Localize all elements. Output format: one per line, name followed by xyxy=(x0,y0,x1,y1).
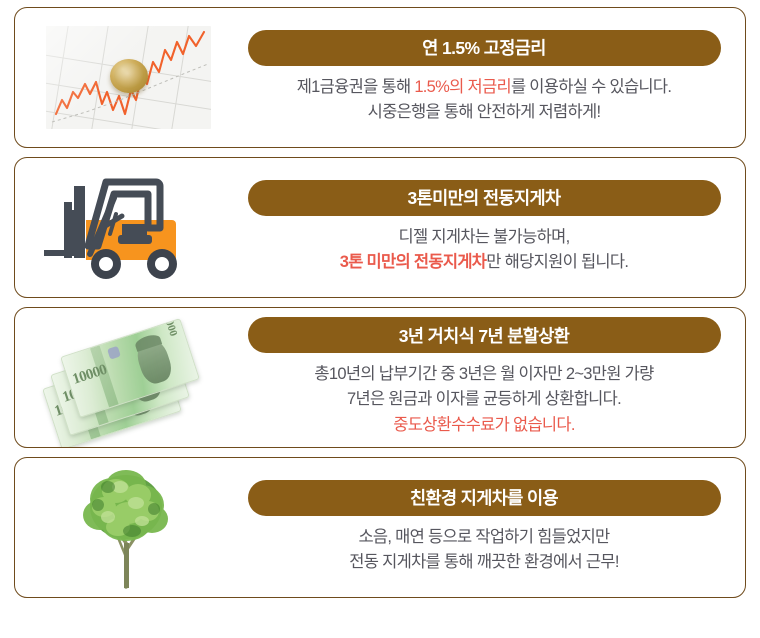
card-body-eco-friendly: 친환경 지게차를 이용 소음, 매연 등으로 작업하기 힘들었지만전동 지게차를… xyxy=(241,457,745,598)
forklift-icon xyxy=(44,172,212,284)
description-line: 7년은 원금과 이자를 균등하게 상환합니다. xyxy=(314,387,653,412)
card-body-under-3ton: 3톤미만의 전동지게차 디젤 지게차는 불가능하며,3톤 미만의 전동지게차만 … xyxy=(241,157,745,298)
description-line: 시중은행을 통해 안전하게 저렴하게! xyxy=(297,100,672,125)
description-line: 중도상환수수료가 없습니다. xyxy=(314,413,653,438)
card-description-repayment: 총10년의 납부기간 중 3년은 월 이자만 2~3만원 가량7년은 원금과 이… xyxy=(314,362,653,437)
banknote-seal xyxy=(107,345,121,359)
card-visual-coin-chart xyxy=(15,7,241,148)
description-highlight: 1.5%의 저금리 xyxy=(414,78,511,96)
description-text: 총10년의 납부기간 중 3년은 월 이자만 2~3만원 가량 xyxy=(314,365,653,383)
benefit-card-eco-friendly: 친환경 지게차를 이용 소음, 매연 등으로 작업하기 힘들었지만전동 지게차를… xyxy=(14,457,746,598)
coin-chart-photo xyxy=(46,26,211,129)
card-title-under-3ton: 3톤미만의 전동지게차 xyxy=(248,180,721,216)
card-body-repayment: 3년 거치식 7년 분할상환 총10년의 납부기간 중 3년은 월 이자만 2~… xyxy=(241,307,745,448)
description-highlight: 중도상환수수료가 없습니다. xyxy=(393,416,575,434)
description-line: 소음, 매연 등으로 작업하기 힘들었지만 xyxy=(349,525,618,550)
description-line: 총10년의 납부기간 중 3년은 월 이자만 2~3만원 가량 xyxy=(314,362,653,387)
description-text: 를 이용하실 수 있습니다. xyxy=(511,78,671,96)
description-line: 3톤 미만의 전동지게차만 해당지원이 됩니다. xyxy=(340,250,629,275)
card-title-eco-friendly: 친환경 지게차를 이용 xyxy=(248,480,721,516)
card-visual-banknotes: 10000 10000 10000 10000 10000 10000 xyxy=(15,307,241,448)
description-line: 전동 지게차를 통해 깨끗한 환경에서 근무! xyxy=(349,550,618,575)
description-text: 시중은행을 통해 안전하게 저렴하게! xyxy=(368,103,601,121)
description-line: 제1금융권을 통해 1.5%의 저금리를 이용하실 수 있습니다. xyxy=(297,75,672,100)
card-description-fixed-rate: 제1금융권을 통해 1.5%의 저금리를 이용하실 수 있습니다.시중은행을 통… xyxy=(297,75,672,125)
banknote-denomination-side: 10000 xyxy=(159,318,179,338)
card-description-eco-friendly: 소음, 매연 등으로 작업하기 힘들었지만전동 지게차를 통해 깨끗한 환경에서… xyxy=(349,525,618,575)
description-text: 디젤 지게차는 불가능하며, xyxy=(399,228,570,246)
tree-icon xyxy=(68,465,188,591)
description-text: 소음, 매연 등으로 작업하기 힘들었지만 xyxy=(358,528,609,546)
coin-icon xyxy=(110,59,148,93)
benefit-card-repayment: 10000 10000 10000 10000 10000 10000 xyxy=(14,307,746,448)
description-line: 디젤 지게차는 불가능하며, xyxy=(340,225,629,250)
description-text: 전동 지게차를 통해 깨끗한 환경에서 근무! xyxy=(349,553,618,571)
card-title-fixed-rate: 연 1.5% 고정금리 xyxy=(248,30,721,66)
card-title-repayment: 3년 거치식 7년 분할상환 xyxy=(248,317,721,353)
description-text: 만 해당지원이 됩니다. xyxy=(486,253,628,271)
benefit-card-list: 연 1.5% 고정금리 제1금융권을 통해 1.5%의 저금리를 이용하실 수 … xyxy=(0,0,760,638)
card-visual-forklift xyxy=(15,157,241,298)
banknote-portrait xyxy=(133,335,175,386)
benefit-card-fixed-rate: 연 1.5% 고정금리 제1금융권을 통해 1.5%의 저금리를 이용하실 수 … xyxy=(14,7,746,148)
banknotes-photo: 10000 10000 10000 10000 10000 10000 xyxy=(43,318,213,438)
description-highlight: 3톤 미만의 전동지게차 xyxy=(340,253,487,271)
card-body-fixed-rate: 연 1.5% 고정금리 제1금융권을 통해 1.5%의 저금리를 이용하실 수 … xyxy=(241,7,745,148)
card-visual-tree xyxy=(15,457,241,598)
card-description-under-3ton: 디젤 지게차는 불가능하며,3톤 미만의 전동지게차만 해당지원이 됩니다. xyxy=(340,225,629,275)
benefit-card-under-3ton: 3톤미만의 전동지게차 디젤 지게차는 불가능하며,3톤 미만의 전동지게차만 … xyxy=(14,157,746,298)
description-text: 제1금융권을 통해 xyxy=(297,78,415,96)
description-text: 7년은 원금과 이자를 균등하게 상환합니다. xyxy=(347,390,621,408)
